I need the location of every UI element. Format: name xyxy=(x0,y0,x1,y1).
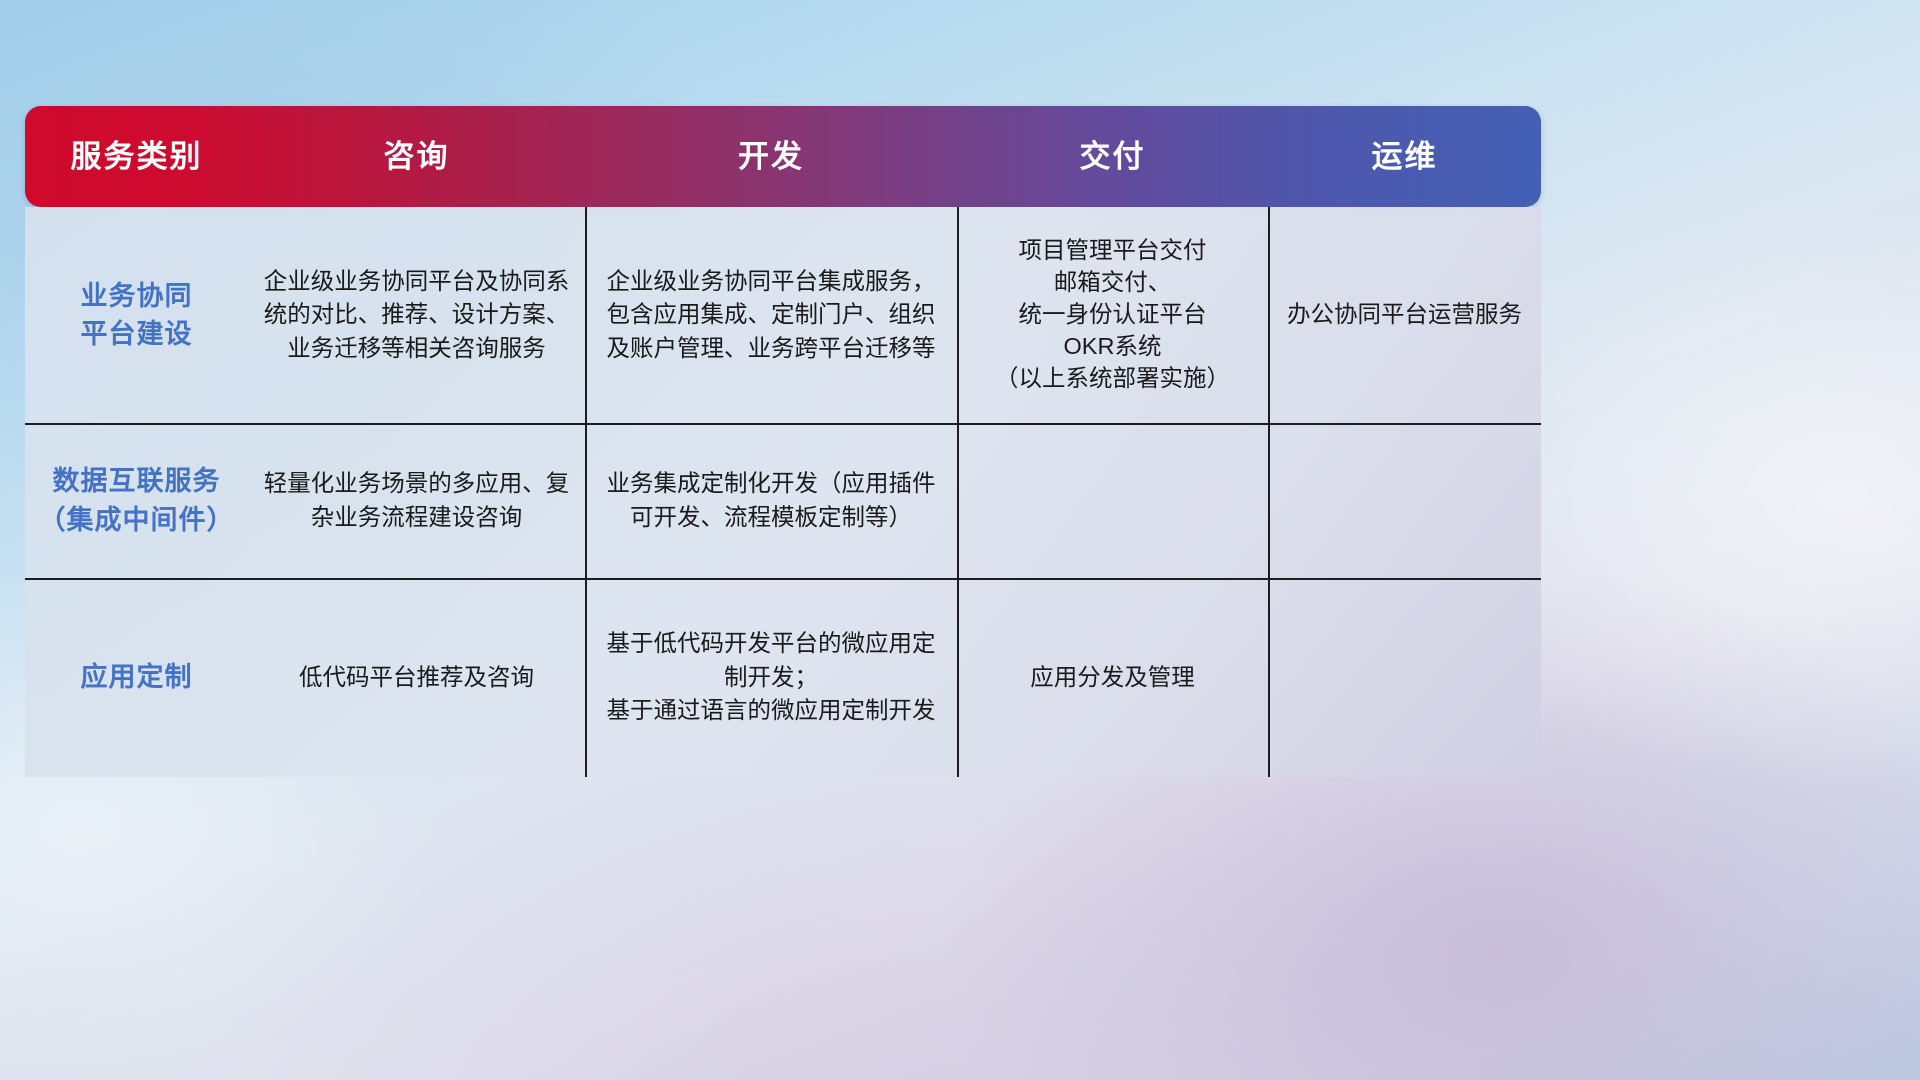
cell-operations: 办公协同平台运营服务 xyxy=(1268,207,1541,423)
cell-text: 项目管理平台交付邮箱交付、统一身份认证平台OKR系统（以上系统部署实施） xyxy=(995,235,1230,395)
header-cell-consulting: 咨询 xyxy=(248,141,585,172)
cell-development: 企业级业务协同平台集成服务，包含应用集成、定制门户、组织及账户管理、业务跨平台迁… xyxy=(585,207,957,423)
header-cell-delivery: 交付 xyxy=(957,141,1268,172)
cell-consulting: 低代码平台推荐及咨询 xyxy=(248,578,585,777)
cell-delivery xyxy=(957,423,1268,578)
row-category-label: 数据互联服务（集成中间件） xyxy=(39,462,235,539)
cell-development: 基于低代码开发平台的微应用定制开发；基于通过语言的微应用定制开发 xyxy=(585,578,957,777)
row-category-label: 业务协同平台建设 xyxy=(81,277,193,354)
cell-text: 低代码平台推荐及咨询 xyxy=(299,661,534,694)
table-row: 应用定制 xyxy=(25,578,248,777)
row-category-label: 应用定制 xyxy=(81,658,193,696)
header-cell-service-category: 服务类别 xyxy=(25,141,248,172)
cell-text: 办公协同平台运营服务 xyxy=(1287,298,1522,331)
header-cell-development: 开发 xyxy=(585,141,957,172)
cell-text: 基于低代码开发平台的微应用定制开发；基于通过语言的微应用定制开发 xyxy=(607,627,936,727)
cell-text: 轻量化业务场景的多应用、复杂业务流程建设咨询 xyxy=(264,467,570,534)
header-cell-operations: 运维 xyxy=(1268,141,1541,172)
table-row: 数据互联服务（集成中间件） xyxy=(25,423,248,578)
cell-delivery: 应用分发及管理 xyxy=(957,578,1268,777)
cell-text: 企业级业务协同平台及协同系统的对比、推荐、设计方案、业务迁移等相关咨询服务 xyxy=(264,265,570,365)
table-body: 业务协同平台建设 企业级业务协同平台及协同系统的对比、推荐、设计方案、业务迁移等… xyxy=(25,207,1541,777)
cell-operations xyxy=(1268,423,1541,578)
table-header-row: 服务类别 咨询 开发 交付 运维 xyxy=(25,106,1541,207)
service-matrix-table: 服务类别 咨询 开发 交付 运维 业务协同平台建设 企业级业务协同平台及协同系统… xyxy=(25,106,1541,783)
cell-text: 业务集成定制化开发（应用插件可开发、流程模板定制等） xyxy=(607,467,936,534)
table-row: 业务协同平台建设 xyxy=(25,207,248,423)
cell-consulting: 企业级业务协同平台及协同系统的对比、推荐、设计方案、业务迁移等相关咨询服务 xyxy=(248,207,585,423)
cell-consulting: 轻量化业务场景的多应用、复杂业务流程建设咨询 xyxy=(248,423,585,578)
cell-text: 应用分发及管理 xyxy=(1030,661,1195,694)
cell-delivery: 项目管理平台交付邮箱交付、统一身份认证平台OKR系统（以上系统部署实施） xyxy=(957,207,1268,423)
cell-text: 企业级业务协同平台集成服务，包含应用集成、定制门户、组织及账户管理、业务跨平台迁… xyxy=(607,265,936,365)
cell-operations xyxy=(1268,578,1541,777)
cell-development: 业务集成定制化开发（应用插件可开发、流程模板定制等） xyxy=(585,423,957,578)
